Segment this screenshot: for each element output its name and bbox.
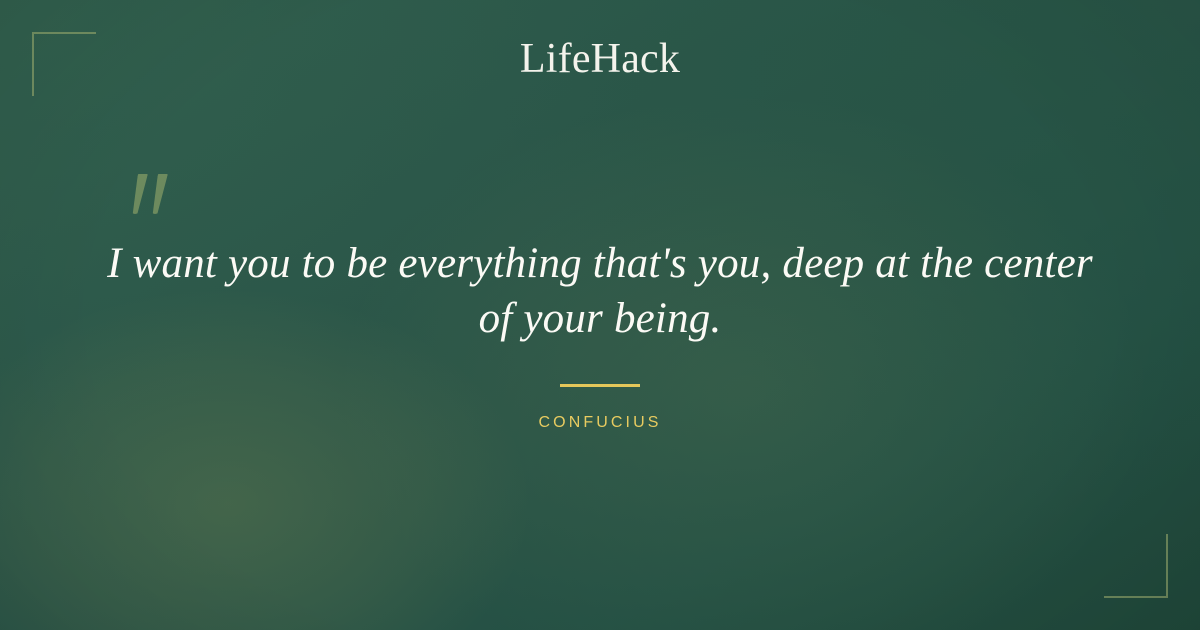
double-quote-icon bbox=[128, 166, 188, 222]
quote-card: LifeHack I want you to be everything tha… bbox=[0, 0, 1200, 630]
quote-author: CONFUCIUS bbox=[538, 414, 661, 432]
divider-rule bbox=[560, 384, 640, 387]
corner-bracket-icon-bottom-right bbox=[1104, 534, 1168, 598]
quote-text: I want you to be everything that's you, … bbox=[100, 236, 1100, 346]
quote-line-2: your being. bbox=[523, 295, 721, 342]
quote-stroke-right bbox=[150, 174, 168, 214]
quote-block: I want you to be everything that's you, … bbox=[100, 236, 1100, 346]
brand-header: LifeHack bbox=[0, 38, 1200, 80]
quote-stroke-left bbox=[130, 174, 148, 214]
lifehack-wordmark-icon: LifeHack bbox=[520, 38, 680, 80]
